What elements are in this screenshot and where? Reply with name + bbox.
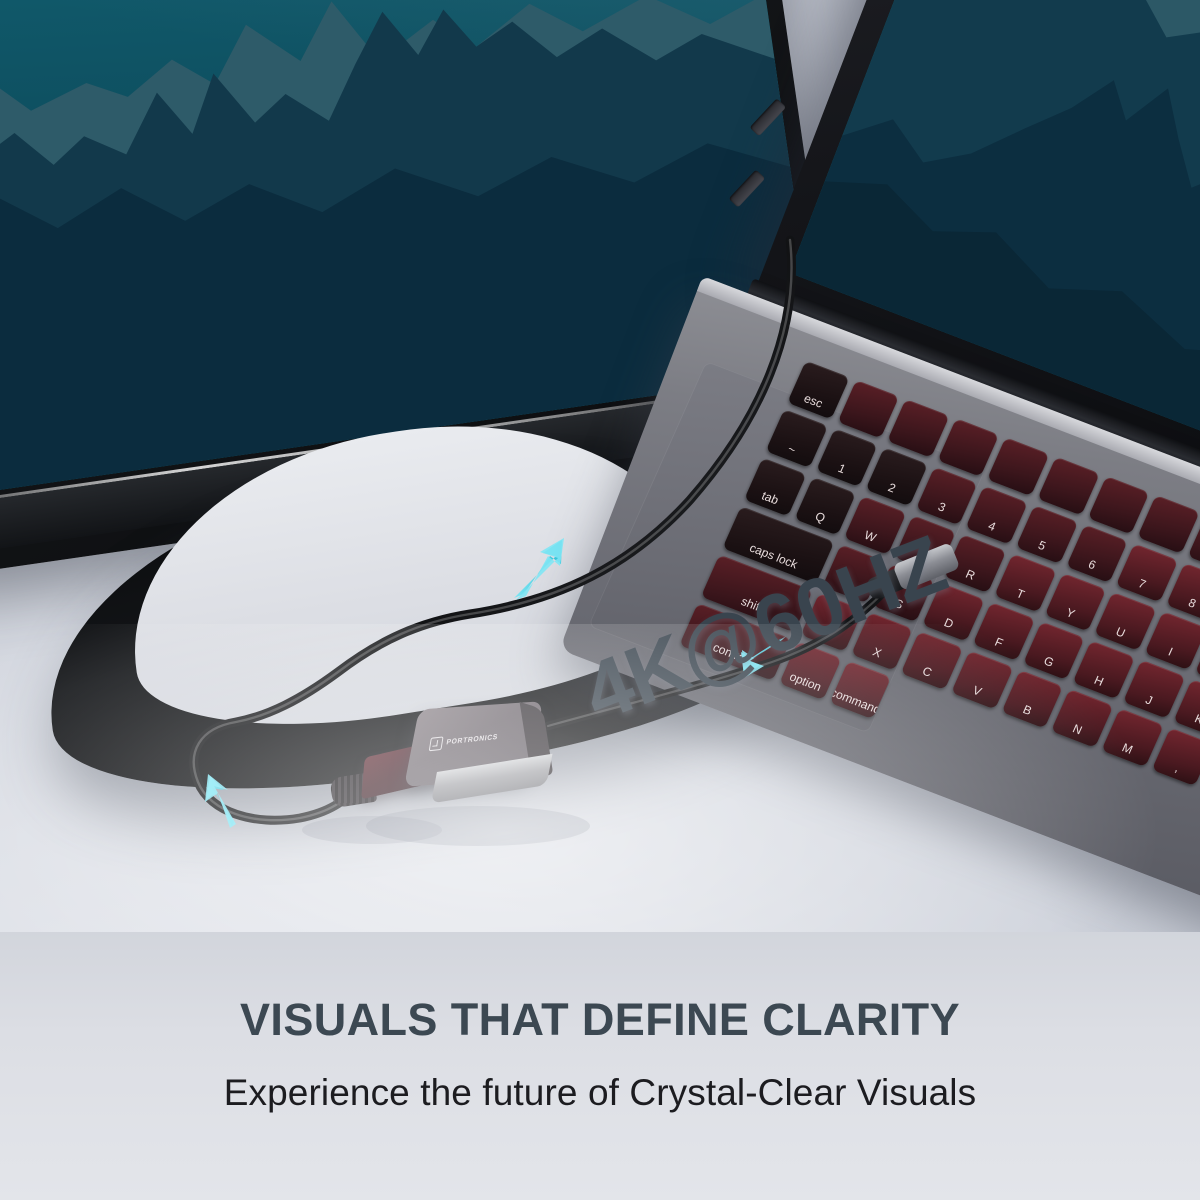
- key-m[interactable]: M: [1101, 708, 1163, 767]
- key-i[interactable]: I: [1144, 611, 1200, 670]
- page-title: VISUALS THAT DEFINE CLARITY: [0, 994, 1200, 1046]
- caption-block: VISUALS THAT DEFINE CLARITY Experience t…: [0, 994, 1200, 1114]
- key-7[interactable]: 7: [1116, 544, 1178, 603]
- key-2[interactable]: 2: [866, 448, 928, 507]
- key-command[interactable]: command: [829, 661, 891, 720]
- key-q[interactable]: Q: [794, 477, 856, 536]
- key-1[interactable]: 1: [816, 428, 878, 487]
- portronics-logo-icon: [429, 736, 444, 751]
- page-subtitle: Experience the future of Crystal-Clear V…: [0, 1072, 1200, 1114]
- product-marketing-image: esc ~ 1 2 3 4 5 6 7 8 9 0 - =: [0, 0, 1200, 1200]
- key-6[interactable]: 6: [1066, 524, 1128, 583]
- key-5[interactable]: 5: [1016, 505, 1078, 564]
- key-comma[interactable]: ,: [1151, 727, 1200, 786]
- key-b[interactable]: B: [1001, 670, 1063, 729]
- key-v[interactable]: V: [951, 651, 1013, 710]
- key-g[interactable]: G: [1023, 621, 1085, 680]
- key-4[interactable]: 4: [966, 486, 1028, 545]
- brand-name: PORTRONICS: [446, 734, 499, 747]
- key-h[interactable]: H: [1073, 641, 1135, 700]
- key-u[interactable]: U: [1094, 592, 1156, 651]
- key-f[interactable]: F: [973, 602, 1035, 661]
- key-j[interactable]: J: [1123, 660, 1185, 719]
- key-y[interactable]: Y: [1044, 573, 1106, 632]
- key-3[interactable]: 3: [916, 467, 978, 526]
- key-t[interactable]: T: [994, 554, 1056, 613]
- key-c[interactable]: C: [901, 631, 963, 690]
- key-n[interactable]: N: [1051, 689, 1113, 748]
